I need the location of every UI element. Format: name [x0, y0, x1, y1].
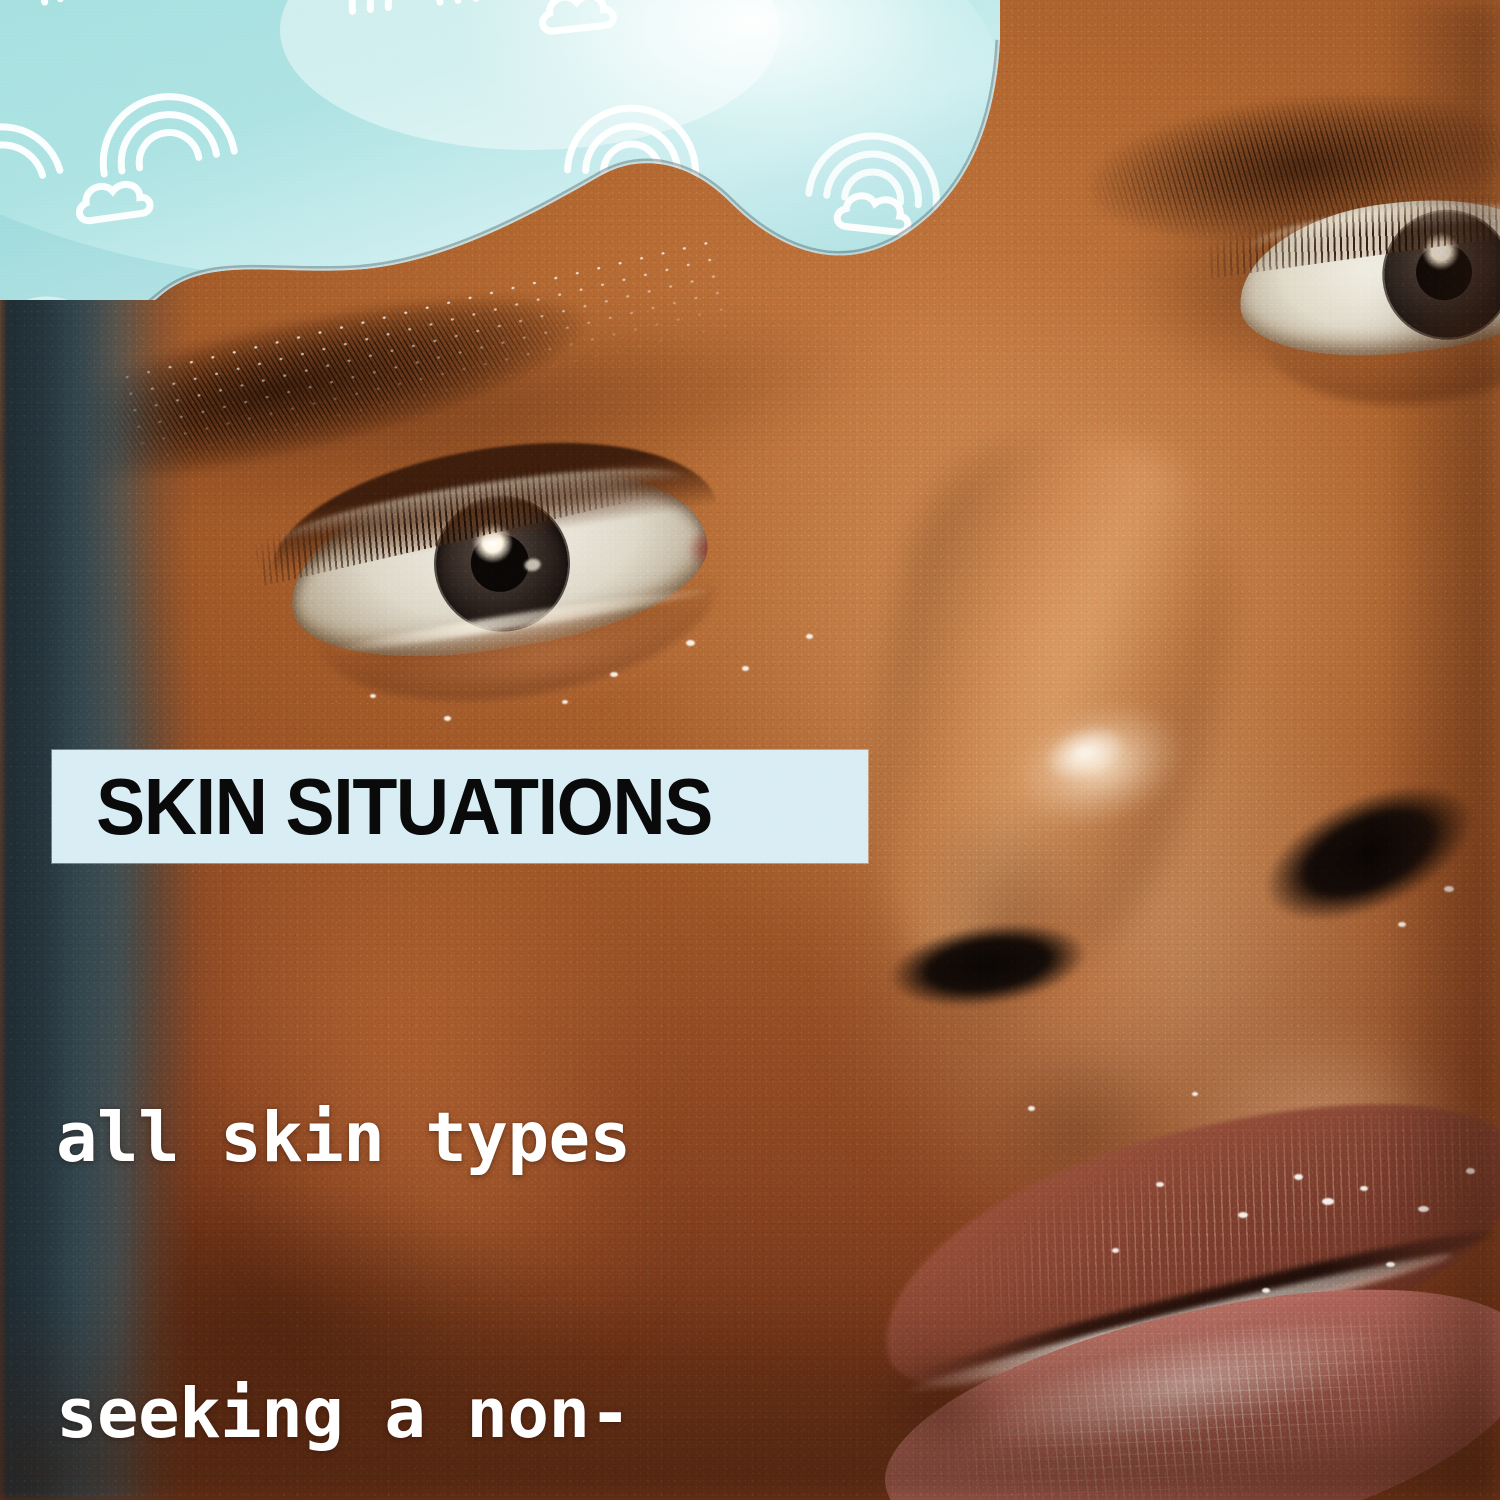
marketing-image: SKIN SITUATIONS all skin types seeking a…: [0, 0, 1500, 1500]
headline-band: SKIN SITUATIONS: [52, 750, 868, 863]
page-title: SKIN SITUATIONS: [52, 767, 712, 847]
body-line-1: all skin types: [56, 1092, 896, 1184]
body-line-2: seeking a non-: [56, 1368, 896, 1460]
spa-headband: [0, 0, 1080, 300]
headband-shape: [0, 0, 1080, 300]
body-copy: all skin types seeking a non- invasive w…: [56, 908, 896, 1500]
